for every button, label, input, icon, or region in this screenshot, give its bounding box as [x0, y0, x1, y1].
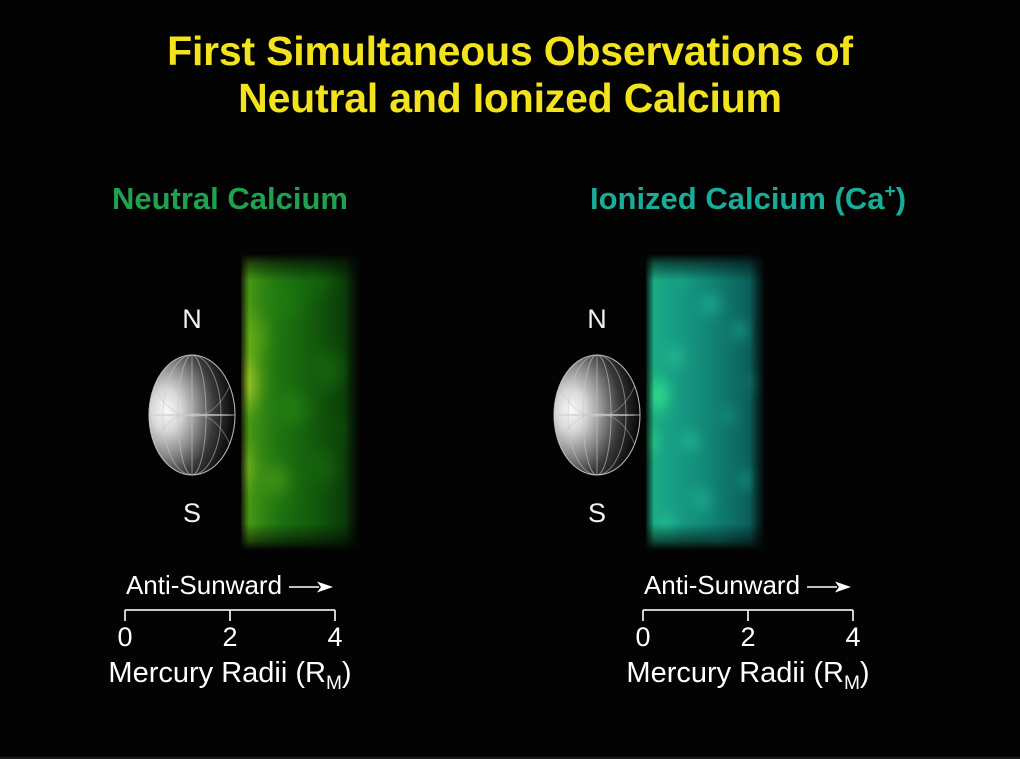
observation-stage-neutral: N [10, 252, 450, 572]
title-line-1: First Simultaneous Observations of [0, 28, 1020, 75]
axis-tick-2-ionized: 2 [740, 622, 755, 652]
axis-title-tail-neutral: ) [342, 657, 352, 689]
page-title: First Simultaneous Observations of Neutr… [0, 28, 1020, 122]
panel-heading-ionized-text: Ionized Calcium (Ca [590, 181, 885, 216]
axis-tick-2-neutral: 2 [222, 622, 237, 652]
globe-wireframe-icon [137, 348, 247, 482]
axis-neutral: Anti-Sunward 0 2 4 Mercury Radii (RM) [10, 570, 450, 690]
mercury-globe-ionized: N [542, 348, 652, 482]
axis-title-subscript-ionized: M [844, 673, 860, 694]
panel-heading-neutral-text: Neutral Calcium [112, 181, 348, 216]
panel-ionized-calcium: Ionized Calcium (Ca+) N [528, 180, 968, 700]
globe-north-label-ionized: N [542, 304, 652, 334]
emission-cloud-ionized [646, 254, 764, 550]
axis-title-main-ionized: Mercury Radii (R [626, 657, 844, 689]
globe-south-label-ionized: S [542, 498, 652, 528]
axis-title-neutral: Mercury Radii (RM) [10, 656, 450, 690]
emission-cloud-neutral [241, 254, 359, 550]
slide-canvas: First Simultaneous Observations of Neutr… [0, 0, 1020, 759]
axis-direction-neutral: Anti-Sunward [10, 570, 450, 600]
axis-tick-0-ionized: 0 [635, 622, 650, 652]
globe-south-label-neutral: S [137, 498, 247, 528]
axis-tick-0-neutral: 0 [117, 622, 132, 652]
mercury-globe-neutral: N [137, 348, 247, 482]
axis-direction-ionized: Anti-Sunward [528, 570, 968, 600]
axis-title-tail-ionized: ) [860, 657, 870, 689]
axis-tick-4-neutral: 4 [327, 622, 342, 652]
panel-heading-ionized-superscript: + [885, 182, 896, 203]
axis-direction-label-ionized: Anti-Sunward [644, 570, 800, 600]
axis-title-subscript-neutral: M [326, 673, 342, 694]
observation-stage-ionized: N [528, 252, 968, 572]
axis-tick-labels-neutral: 0 2 4 [123, 622, 337, 654]
arrow-right-icon [806, 579, 852, 595]
axis-ruler-neutral [123, 608, 337, 622]
globe-north-label-neutral: N [137, 304, 247, 334]
axis-title-main-neutral: Mercury Radii (R [108, 657, 326, 689]
axis-tick-4-ionized: 4 [845, 622, 860, 652]
panel-neutral-calcium: Neutral Calcium N [10, 180, 450, 700]
emission-image-neutral [241, 254, 359, 550]
panel-heading-neutral: Neutral Calcium [10, 180, 450, 218]
axis-ionized: Anti-Sunward 0 2 4 Mercury Radii (RM) [528, 570, 968, 690]
axis-ruler-ionized [641, 608, 855, 622]
axis-direction-label-neutral: Anti-Sunward [126, 570, 282, 600]
axis-tick-labels-ionized: 0 2 4 [641, 622, 855, 654]
panel-heading-ionized: Ionized Calcium (Ca+) [528, 180, 968, 218]
axis-title-ionized: Mercury Radii (RM) [528, 656, 968, 690]
globe-wireframe-icon [542, 348, 652, 482]
arrow-right-icon [288, 579, 334, 595]
emission-image-ionized [646, 254, 764, 550]
title-line-2: Neutral and Ionized Calcium [0, 75, 1020, 122]
panel-heading-ionized-tail: ) [896, 181, 906, 216]
